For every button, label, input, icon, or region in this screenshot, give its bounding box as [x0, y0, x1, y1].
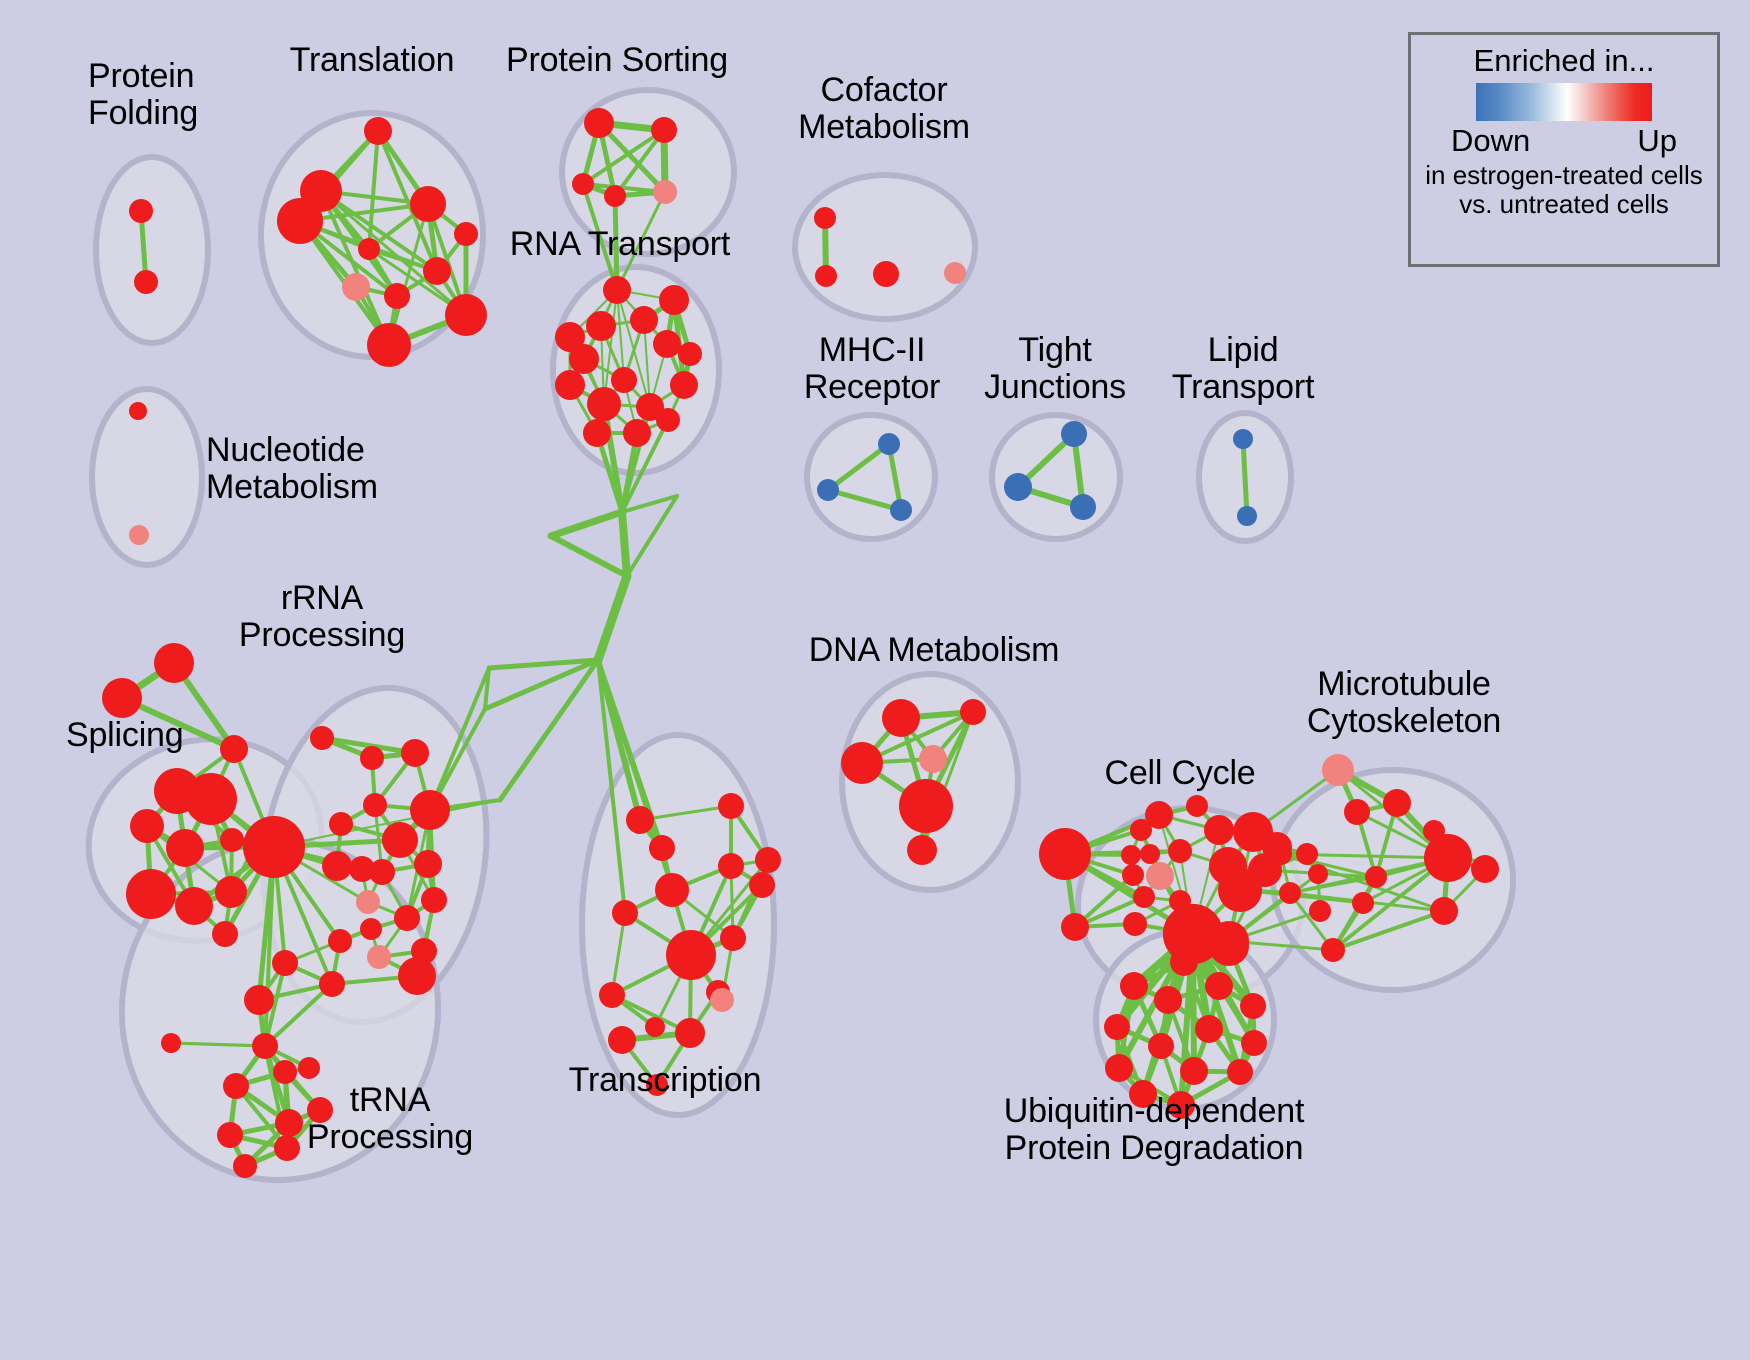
- node-microtubule-cytoskeleton-11[interactable]: [1471, 855, 1499, 883]
- node-transcription-14[interactable]: [710, 988, 734, 1012]
- legend-subtitle-line-1: in estrogen-treated cells: [1425, 161, 1702, 190]
- cluster-label-nucleotide-metabolism: Nucleotide Metabolism: [206, 432, 378, 505]
- node-rrna-processing-19[interactable]: [272, 950, 298, 976]
- node-trna-processing-9[interactable]: [252, 1033, 278, 1059]
- node-ubiquitin-protein-degradation-13[interactable]: [1180, 1057, 1208, 1085]
- cluster-ellipse-protein-folding: [96, 157, 208, 343]
- node-microtubule-cytoskeleton-5[interactable]: [1321, 938, 1345, 962]
- inter-cluster-edge: [598, 576, 627, 660]
- node-ubiquitin-protein-degradation-10[interactable]: [1195, 1015, 1223, 1043]
- node-splicing-5[interactable]: [130, 809, 164, 843]
- node-nucleotide-metabolism-0[interactable]: [129, 402, 147, 420]
- cluster-label-translation: Translation: [290, 42, 455, 79]
- node-dna-metabolism-1[interactable]: [960, 699, 986, 725]
- node-transcription-0[interactable]: [626, 806, 654, 834]
- node-rrna-processing-21[interactable]: [398, 957, 436, 995]
- node-cell-cycle-0[interactable]: [1039, 828, 1091, 880]
- node-rrna-processing-15[interactable]: [360, 918, 382, 940]
- cluster-label-transcription: Transcription: [569, 1062, 762, 1099]
- node-rrna-processing-13[interactable]: [421, 887, 447, 913]
- node-cell-cycle-1[interactable]: [1061, 913, 1089, 941]
- node-microtubule-cytoskeleton-0[interactable]: [1322, 754, 1354, 786]
- node-microtubule-cytoskeleton-6[interactable]: [1352, 892, 1374, 914]
- node-protein-sorting-1[interactable]: [651, 117, 677, 143]
- node-rrna-processing-2[interactable]: [401, 739, 429, 767]
- node-transcription-16[interactable]: [612, 900, 638, 926]
- node-cofactor-metabolism-1[interactable]: [815, 265, 837, 287]
- node-rna-transport-15[interactable]: [656, 408, 680, 432]
- node-ubiquitin-protein-degradation-1[interactable]: [1120, 972, 1148, 1000]
- node-rrna-processing-11[interactable]: [243, 816, 305, 878]
- node-microtubule-cytoskeleton-7[interactable]: [1365, 866, 1387, 888]
- node-protein-sorting-3[interactable]: [604, 185, 626, 207]
- cluster-label-lipid-transport: Lipid Transport: [1172, 332, 1314, 405]
- node-rna-transport-7[interactable]: [569, 344, 599, 374]
- cluster-label-rrna-processing: rRNA Processing: [239, 580, 405, 653]
- cluster-label-cell-cycle: Cell Cycle: [1104, 755, 1255, 792]
- inter-cluster-edge: [551, 536, 627, 576]
- cluster-label-microtubule-cytoskeleton: Microtubule Cytoskeleton: [1307, 666, 1501, 739]
- node-microtubule-cytoskeleton-9[interactable]: [1279, 882, 1301, 904]
- node-transcription-10[interactable]: [675, 1018, 705, 1048]
- node-dna-metabolism-4[interactable]: [899, 779, 953, 833]
- node-rrna-processing-16[interactable]: [328, 929, 352, 953]
- node-tight-junctions-0[interactable]: [1061, 421, 1087, 447]
- node-rrna-processing-6[interactable]: [382, 822, 418, 858]
- node-cell-cycle-15[interactable]: [1122, 864, 1144, 886]
- node-rna-transport-10[interactable]: [670, 371, 698, 399]
- cluster-ellipse-mhc-ii-receptor: [807, 415, 935, 539]
- node-microtubule-cytoskeleton-8[interactable]: [1270, 843, 1292, 865]
- node-rrna-processing-1[interactable]: [360, 746, 384, 770]
- node-mhc-ii-receptor-1[interactable]: [817, 479, 839, 501]
- node-ubiquitin-protein-degradation-7[interactable]: [1240, 993, 1266, 1019]
- node-translation-7[interactable]: [342, 273, 370, 301]
- node-rna-transport-8[interactable]: [555, 370, 585, 400]
- node-dna-metabolism-2[interactable]: [841, 742, 883, 784]
- node-translation-3[interactable]: [277, 198, 323, 244]
- node-rrna-processing-7[interactable]: [322, 851, 352, 881]
- node-ubiquitin-protein-degradation-2[interactable]: [1170, 948, 1198, 976]
- node-translation-6[interactable]: [423, 257, 451, 285]
- cluster-label-protein-sorting: Protein Sorting: [506, 42, 728, 79]
- node-rna-transport-11[interactable]: [587, 387, 621, 421]
- node-splicing-0[interactable]: [154, 643, 194, 683]
- node-protein-folding-0[interactable]: [129, 199, 153, 223]
- node-splicing-10[interactable]: [215, 876, 247, 908]
- node-translation-5[interactable]: [358, 238, 380, 260]
- node-splicing-4[interactable]: [185, 773, 237, 825]
- node-rna-transport-1[interactable]: [659, 285, 689, 315]
- node-trna-processing-4[interactable]: [217, 1122, 243, 1148]
- node-transcription-9[interactable]: [720, 925, 746, 951]
- node-rrna-processing-17[interactable]: [367, 945, 391, 969]
- node-translation-8[interactable]: [384, 283, 410, 309]
- node-lipid-transport-0[interactable]: [1233, 429, 1253, 449]
- cluster-label-dna-metabolism: DNA Metabolism: [809, 632, 1059, 669]
- inter-cluster-edge: [551, 512, 622, 536]
- node-rna-transport-2[interactable]: [586, 311, 616, 341]
- node-rrna-processing-4[interactable]: [329, 812, 353, 836]
- cluster-label-mhc-ii-receptor: MHC-II Receptor: [804, 332, 940, 405]
- node-rrna-processing-3[interactable]: [363, 793, 387, 817]
- node-transcription-12[interactable]: [608, 1026, 636, 1054]
- cluster-label-cofactor-metabolism: Cofactor Metabolism: [798, 72, 970, 145]
- node-protein-folding-1[interactable]: [134, 270, 158, 294]
- node-cell-cycle-3[interactable]: [1186, 795, 1208, 817]
- node-ubiquitin-protein-degradation-3[interactable]: [1209, 926, 1249, 966]
- node-cell-cycle-4[interactable]: [1130, 819, 1152, 841]
- node-protein-sorting-2[interactable]: [572, 173, 594, 195]
- node-rrna-processing-0[interactable]: [310, 726, 334, 750]
- legend-title: Enriched in...: [1474, 43, 1655, 79]
- node-ubiquitin-protein-degradation-5[interactable]: [1154, 986, 1182, 1014]
- node-ubiquitin-protein-degradation-4[interactable]: [1104, 1014, 1130, 1040]
- node-trna-processing-3[interactable]: [273, 1060, 297, 1084]
- node-splicing-1[interactable]: [102, 678, 142, 718]
- node-rna-transport-9[interactable]: [611, 367, 637, 393]
- node-transcription-4[interactable]: [718, 793, 744, 819]
- node-splicing-6[interactable]: [166, 829, 204, 867]
- cluster-label-tight-junctions: Tight Junctions: [984, 332, 1126, 405]
- node-tight-junctions-1[interactable]: [1004, 473, 1032, 501]
- node-cell-cycle-11[interactable]: [1121, 845, 1141, 865]
- inter-cluster-edge: [622, 512, 627, 576]
- node-splicing-2[interactable]: [220, 735, 248, 763]
- cluster-label-ubiquitin-protein-degradation: Ubiquitin-dependent Protein Degradation: [1004, 1093, 1305, 1166]
- node-splicing-7[interactable]: [220, 828, 244, 852]
- node-rrna-processing-22[interactable]: [244, 985, 274, 1015]
- node-cofactor-metabolism-3[interactable]: [944, 262, 966, 284]
- legend-up-label: Up: [1637, 123, 1677, 159]
- node-dna-metabolism-3[interactable]: [919, 745, 947, 773]
- node-rna-transport-5[interactable]: [653, 330, 681, 358]
- node-ubiquitin-protein-degradation-14[interactable]: [1227, 1059, 1253, 1085]
- node-protein-sorting-4[interactable]: [653, 180, 677, 204]
- node-cofactor-metabolism-0[interactable]: [814, 207, 836, 229]
- node-cell-cycle-16[interactable]: [1133, 886, 1155, 908]
- node-transcription-13[interactable]: [645, 1017, 665, 1037]
- node-cell-cycle-20[interactable]: [1123, 912, 1147, 936]
- node-translation-2[interactable]: [410, 186, 446, 222]
- node-transcription-6[interactable]: [755, 847, 781, 873]
- node-rrna-processing-12[interactable]: [356, 890, 380, 914]
- node-microtubule-cytoskeleton-4[interactable]: [1424, 834, 1472, 882]
- node-rna-transport-13[interactable]: [583, 419, 611, 447]
- node-trna-processing-0[interactable]: [161, 1033, 181, 1053]
- node-rna-transport-6[interactable]: [678, 342, 702, 366]
- node-rna-transport-3[interactable]: [630, 306, 658, 334]
- legend-down-label: Down: [1451, 123, 1530, 159]
- node-splicing-8[interactable]: [126, 869, 176, 919]
- node-ubiquitin-protein-degradation-9[interactable]: [1148, 1033, 1174, 1059]
- node-cell-cycle-7[interactable]: [1140, 844, 1160, 864]
- node-cell-cycle-18[interactable]: [1218, 868, 1262, 912]
- node-trna-processing-8[interactable]: [298, 1057, 320, 1079]
- node-translation-10[interactable]: [367, 323, 411, 367]
- node-ubiquitin-protein-degradation-11[interactable]: [1241, 1030, 1267, 1056]
- node-cell-cycle-19[interactable]: [1308, 864, 1328, 884]
- node-splicing-9[interactable]: [175, 887, 213, 925]
- node-rrna-processing-9[interactable]: [369, 859, 395, 885]
- node-translation-4[interactable]: [454, 222, 478, 246]
- node-translation-9[interactable]: [445, 294, 487, 336]
- cluster-label-trna-processing: tRNA Processing: [307, 1082, 473, 1155]
- node-rna-transport-14[interactable]: [623, 419, 651, 447]
- node-cell-cycle-8[interactable]: [1168, 839, 1192, 863]
- cluster-label-splicing: Splicing: [66, 717, 183, 754]
- node-cell-cycle-10[interactable]: [1296, 843, 1318, 865]
- node-trna-processing-1[interactable]: [275, 1109, 303, 1137]
- node-trna-processing-2[interactable]: [223, 1073, 249, 1099]
- node-microtubule-cytoskeleton-2[interactable]: [1344, 799, 1370, 825]
- node-dna-metabolism-0[interactable]: [882, 699, 920, 737]
- node-cell-cycle-6[interactable]: [1204, 815, 1234, 845]
- node-transcription-2[interactable]: [655, 873, 689, 907]
- node-microtubule-cytoskeleton-10[interactable]: [1430, 897, 1458, 925]
- enrichment-map-figure: Protein FoldingTranslationProtein Sortin…: [0, 0, 1750, 1360]
- cluster-label-rna-transport: RNA Transport: [510, 226, 730, 263]
- node-cell-cycle-21[interactable]: [1309, 900, 1331, 922]
- node-trna-processing-5[interactable]: [274, 1135, 300, 1161]
- node-rrna-processing-10[interactable]: [414, 850, 442, 878]
- cluster-ellipse-cofactor-metabolism: [795, 175, 975, 319]
- node-lipid-transport-1[interactable]: [1237, 506, 1257, 526]
- node-nucleotide-metabolism-1[interactable]: [129, 525, 149, 545]
- legend-subtitle-line-2: vs. untreated cells: [1459, 190, 1669, 219]
- node-microtubule-cytoskeleton-1[interactable]: [1383, 789, 1411, 817]
- node-rrna-processing-14[interactable]: [394, 905, 420, 931]
- node-transcription-3[interactable]: [718, 853, 744, 879]
- node-protein-sorting-0[interactable]: [584, 108, 614, 138]
- node-cell-cycle-12[interactable]: [1146, 862, 1174, 890]
- legend-panel: Enriched in... Down Up in estrogen-treat…: [1408, 32, 1720, 267]
- cluster-label-protein-folding: Protein Folding: [88, 58, 198, 131]
- node-transcription-5[interactable]: [666, 930, 716, 980]
- node-rrna-processing-20[interactable]: [319, 971, 345, 997]
- node-ubiquitin-protein-degradation-8[interactable]: [1105, 1054, 1133, 1082]
- legend-color-gradient-bar: [1476, 83, 1652, 121]
- node-mhc-ii-receptor-0[interactable]: [878, 433, 900, 455]
- node-transcription-11[interactable]: [599, 982, 625, 1008]
- node-translation-0[interactable]: [364, 117, 392, 145]
- node-cofactor-metabolism-2[interactable]: [873, 261, 899, 287]
- node-dna-metabolism-5[interactable]: [907, 835, 937, 865]
- node-tight-junctions-2[interactable]: [1070, 494, 1096, 520]
- node-mhc-ii-receptor-2[interactable]: [890, 499, 912, 521]
- node-splicing-12[interactable]: [212, 921, 238, 947]
- node-rna-transport-0[interactable]: [603, 276, 631, 304]
- node-transcription-7[interactable]: [749, 872, 775, 898]
- node-ubiquitin-protein-degradation-6[interactable]: [1205, 972, 1233, 1000]
- node-trna-processing-6[interactable]: [233, 1154, 257, 1178]
- node-rrna-processing-5[interactable]: [410, 790, 450, 830]
- node-transcription-1[interactable]: [649, 835, 675, 861]
- legend-endpoint-labels: Down Up: [1451, 123, 1677, 159]
